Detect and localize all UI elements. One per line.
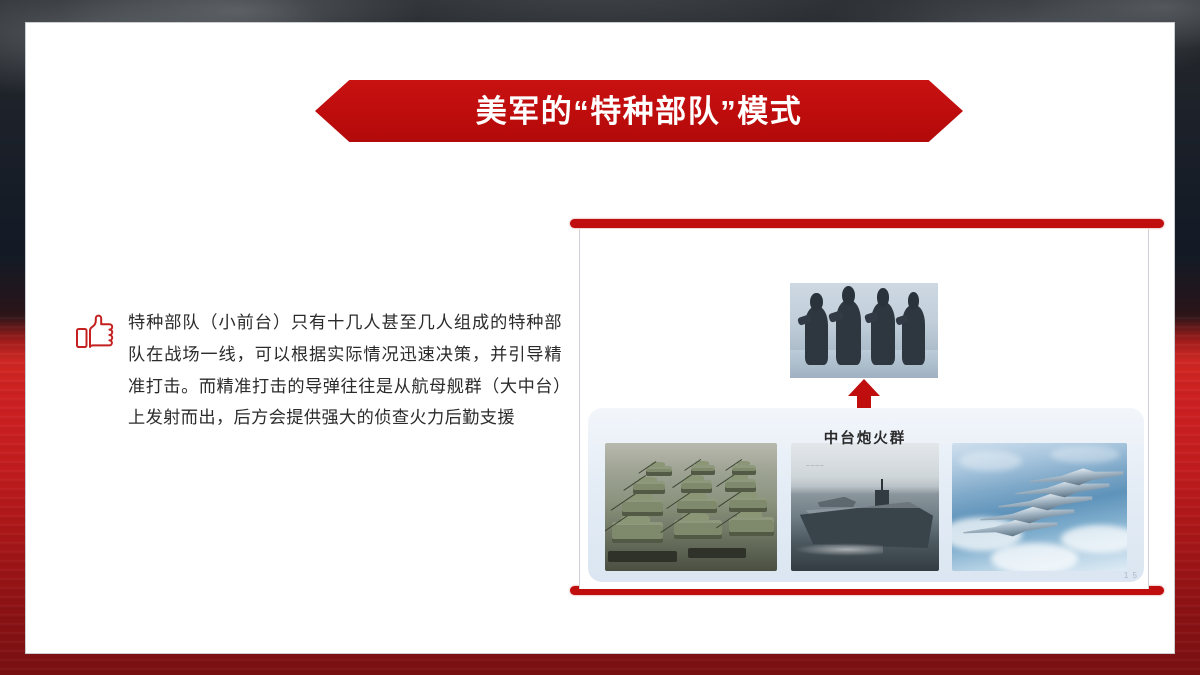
middle-label: 中台炮火群: [580, 427, 1150, 448]
ship-hull: [800, 502, 933, 548]
slide-stage: 美军的“特种部队”模式 特种部队（小前台）只有十几人甚至几人组成的特种部队在战场…: [0, 0, 1200, 675]
special-forces-soldiers-photo: [790, 283, 938, 378]
thumbs-up-icon: [74, 311, 118, 355]
body-text-block: 特种部队（小前台）只有十几人甚至几人组成的特种部队在战场一线，可以根据实际情况迅…: [74, 307, 574, 434]
diagram-panel: ~~~~: [574, 213, 1174, 603]
ship-island-tower: [875, 490, 888, 507]
soldier-figure: [871, 302, 895, 365]
title-banner: 美军的“特种部队”模式: [315, 80, 963, 142]
page-title: 美军的“特种部队”模式: [476, 96, 803, 127]
slide-card: 美军的“特种部队”模式 特种部队（小前台）只有十几人甚至几人组成的特种部队在战场…: [25, 22, 1175, 654]
fighter-jets-photo: [952, 443, 1127, 571]
soldier-figure: [805, 306, 829, 365]
soldier-figure: [836, 300, 861, 365]
ship-wake: [794, 543, 883, 556]
panel-frame: ~~~~: [579, 229, 1149, 589]
aircraft-carrier-photo: ~~~~: [791, 443, 939, 571]
soldier-figure: [902, 305, 924, 365]
tanks-photo: [605, 443, 777, 571]
photo-watermark: ~~~~: [806, 463, 824, 470]
panel-top-red-bar: [570, 219, 1164, 228]
escort-ship: [818, 497, 856, 507]
body-paragraph: 特种部队（小前台）只有十几人甚至几人组成的特种部队在战场一线，可以根据实际情况迅…: [128, 307, 562, 434]
diagram-watermark: 1 5: [1124, 571, 1138, 580]
